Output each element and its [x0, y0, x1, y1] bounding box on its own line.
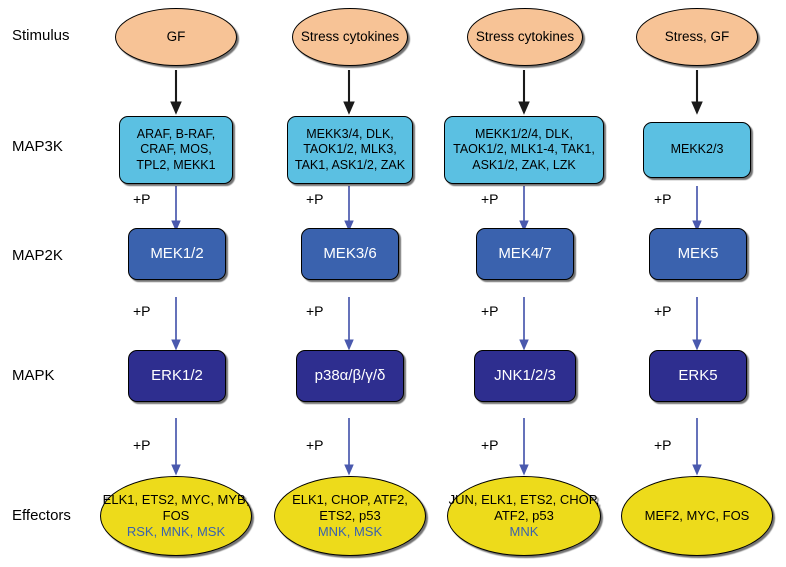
phospho-label-map3k-map2k-3: +P — [481, 192, 499, 206]
mapk-node-3[interactable]: JNK1/2/3 — [474, 350, 576, 402]
map2k-node-1[interactable]: MEK1/2 — [128, 228, 226, 280]
phospho-label-map2k-mapk-4: +P — [654, 304, 672, 318]
stimulus-node-3[interactable]: Stress cytokines — [467, 8, 583, 66]
phospho-label-mapk-effectors-4: +P — [654, 438, 672, 452]
phospho-label-mapk-effectors-3: +P — [481, 438, 499, 452]
phospho-label-map3k-map2k-2: +P — [306, 192, 324, 206]
effector-node-1[interactable]: ELK1, ETS2, MYC, MYB, FOS RSK, MNK, MSK — [100, 476, 252, 556]
stimulus-node-2[interactable]: Stress cytokines — [292, 8, 408, 66]
phospho-label-mapk-effectors-1: +P — [133, 438, 151, 452]
effector-transcription-factors-2: ELK1, CHOP, ATF2, ETS2, p53 — [275, 492, 425, 524]
phospho-label-map2k-mapk-3: +P — [481, 304, 499, 318]
phospho-label-map2k-mapk-1: +P — [133, 304, 151, 318]
mapk-node-2[interactable]: p38α/β/γ/δ — [296, 350, 404, 402]
effector-transcription-factors-3: JUN, ELK1, ETS2, CHOP, ATF2, p53 — [448, 492, 600, 524]
effector-node-4[interactable]: MEF2, MYC, FOS — [621, 476, 773, 556]
effector-node-3[interactable]: JUN, ELK1, ETS2, CHOP, ATF2, p53 MNK — [447, 476, 601, 556]
mapk-node-1[interactable]: ERK1/2 — [128, 350, 226, 402]
effector-transcription-factors-4: MEF2, MYC, FOS — [645, 508, 750, 524]
phospho-label-map3k-map2k-1: +P — [133, 192, 151, 206]
mapk-pathway-diagram: Stimulus MAP3K MAP2K MAPK Effectors — [0, 0, 786, 567]
map2k-node-4[interactable]: MEK5 — [649, 228, 747, 280]
effector-kinases-1: RSK, MNK, MSK — [127, 524, 225, 540]
map3k-node-2[interactable]: MEKK3/4, DLK, TAOK1/2, MLK3, TAK1, ASK1/… — [287, 116, 413, 184]
phospho-label-map3k-map2k-4: +P — [654, 192, 672, 206]
map2k-node-3[interactable]: MEK4/7 — [476, 228, 574, 280]
phospho-label-map2k-mapk-2: +P — [306, 304, 324, 318]
map3k-node-4[interactable]: MEKK2/3 — [643, 122, 751, 178]
map3k-node-1[interactable]: ARAF, B-RAF, CRAF, MOS, TPL2, MEKK1 — [119, 116, 233, 184]
map2k-node-2[interactable]: MEK3/6 — [301, 228, 399, 280]
mapk-node-4[interactable]: ERK5 — [649, 350, 747, 402]
effector-node-2[interactable]: ELK1, CHOP, ATF2, ETS2, p53 MNK, MSK — [274, 476, 426, 556]
stimulus-node-1[interactable]: GF — [115, 8, 237, 66]
effector-kinases-2: MNK, MSK — [318, 524, 382, 540]
phospho-label-mapk-effectors-2: +P — [306, 438, 324, 452]
map3k-node-3[interactable]: MEKK1/2/4, DLK, TAOK1/2, MLK1-4, TAK1, A… — [444, 116, 604, 184]
effector-kinases-3: MNK — [510, 524, 539, 540]
effector-transcription-factors-1: ELK1, ETS2, MYC, MYB, FOS — [101, 492, 251, 524]
stimulus-node-4[interactable]: Stress, GF — [636, 8, 758, 66]
